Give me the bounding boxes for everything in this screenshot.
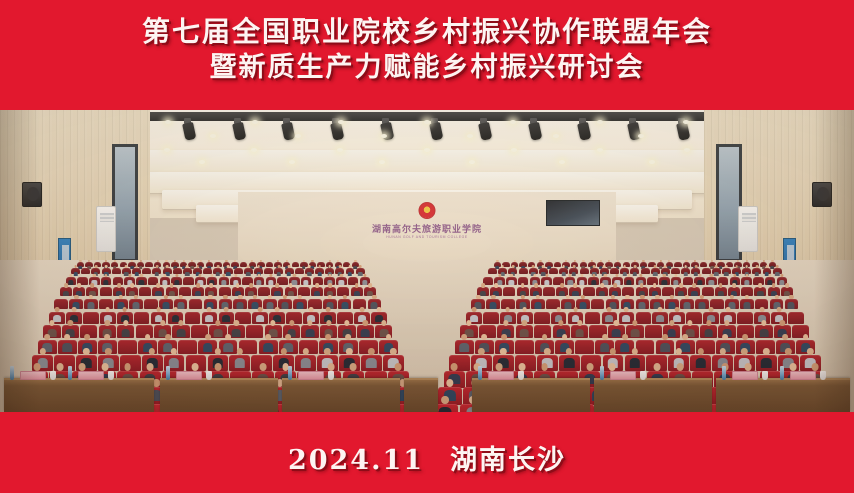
- downlight-icon: [510, 120, 516, 124]
- stage-light-icon: [478, 118, 489, 140]
- stage-light-icon: [232, 118, 243, 140]
- tea-cup: [328, 371, 334, 380]
- downlight-icon: [467, 134, 473, 138]
- vip-table: [594, 378, 712, 412]
- vip-table: [472, 378, 590, 412]
- name-card: [78, 371, 104, 380]
- downlight-icon: [469, 160, 475, 164]
- wall-display-screen: [546, 200, 600, 226]
- downlight-icon: [559, 160, 565, 164]
- right-vignette: [814, 110, 854, 412]
- downlight-icon: [164, 148, 170, 152]
- school-emblem-icon: [419, 202, 436, 219]
- left-vignette: [0, 110, 40, 412]
- downlight-icon: [638, 134, 644, 138]
- water-bottle: [722, 366, 726, 380]
- title-line-1: 第七届全国职业院校乡村振兴协作联盟年会: [0, 14, 854, 50]
- water-bottle: [780, 366, 784, 380]
- downlight-icon: [295, 134, 301, 138]
- right-ac-unit: [738, 206, 758, 252]
- water-bottle: [166, 366, 170, 380]
- left-ac-unit: [96, 206, 116, 252]
- name-card: [488, 371, 514, 380]
- downlight-icon: [424, 120, 430, 124]
- name-card: [610, 371, 636, 380]
- water-bottle: [288, 366, 292, 380]
- name-card: [176, 371, 202, 380]
- water-bottle: [68, 366, 72, 380]
- footer-line: 2024.11湖南长沙: [0, 438, 854, 477]
- tea-cup: [108, 371, 114, 380]
- name-card: [790, 371, 816, 380]
- downlight-icon: [251, 148, 257, 152]
- tea-cup: [762, 371, 768, 380]
- stage-light-icon: [429, 118, 440, 140]
- water-bottle: [478, 366, 482, 380]
- stage-light-icon: [627, 118, 638, 140]
- downlight-icon: [210, 134, 216, 138]
- downlight-icon: [649, 160, 655, 164]
- tea-cup: [640, 371, 646, 380]
- downlight-icon: [683, 120, 689, 124]
- vip-table: [282, 378, 400, 412]
- water-bottle: [600, 366, 604, 380]
- downlight-icon: [338, 120, 344, 124]
- auditorium-photo: 湖南高尔夫旅游职业学院 HUNAN GOLF AND TOURISM COLLE…: [0, 110, 854, 412]
- tea-cup: [518, 371, 524, 380]
- stage-light-icon: [182, 118, 193, 140]
- downlight-icon: [379, 160, 385, 164]
- title-line-2: 暨新质生产力赋能乡村振兴研讨会: [0, 50, 854, 86]
- name-card: [732, 371, 758, 380]
- stage-light-icon: [528, 118, 539, 140]
- stage-light-icon: [577, 118, 588, 140]
- conference-poster: 第七届全国职业院校乡村振兴协作联盟年会 暨新质生产力赋能乡村振兴研讨会 湖南高尔…: [0, 0, 854, 493]
- name-card: [298, 371, 324, 380]
- downlight-icon: [597, 120, 603, 124]
- downlight-icon: [199, 160, 205, 164]
- downlight-icon: [684, 148, 690, 152]
- downlight-icon: [424, 148, 430, 152]
- poster-title: 第七届全国职业院校乡村振兴协作联盟年会 暨新质生产力赋能乡村振兴研讨会: [0, 14, 854, 86]
- vip-table: [160, 378, 278, 412]
- footer-date: 2024.11: [288, 445, 424, 476]
- seating-floor: [0, 260, 854, 412]
- stage-light-icon: [281, 118, 292, 140]
- downlight-icon: [511, 148, 517, 152]
- downlight-icon: [252, 120, 258, 124]
- tea-cup: [206, 371, 212, 380]
- tea-cup: [50, 371, 56, 380]
- vip-table: [404, 378, 438, 412]
- downlight-icon: [165, 120, 171, 124]
- downlight-icon: [553, 134, 559, 138]
- stage-backdrop: 湖南高尔夫旅游职业学院 HUNAN GOLF AND TOURISM COLLE…: [238, 192, 616, 270]
- poster-footer: 2024.11湖南长沙: [0, 438, 854, 477]
- school-name-en: HUNAN GOLF AND TOURISM COLLEGE: [238, 235, 616, 239]
- downlight-icon: [289, 160, 295, 164]
- footer-location: 湖南长沙: [450, 445, 566, 476]
